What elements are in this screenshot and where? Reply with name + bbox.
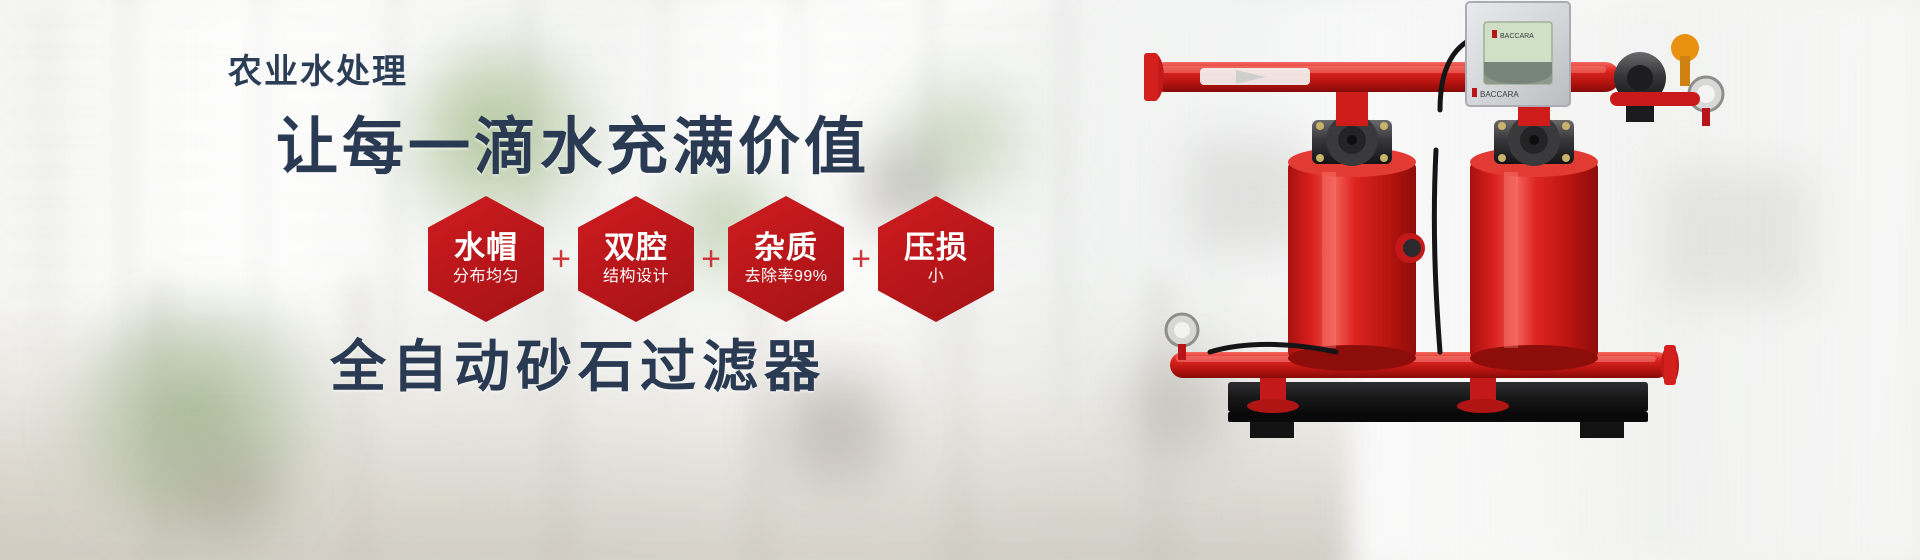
plus-separator-icon: + [694,242,728,276]
banner-subline: 全自动砂石过滤器 [330,322,826,403]
product-vessel-right [1470,147,1598,371]
feature-badge: 杂质 去除率99% [728,196,844,322]
product-image-sand-filter: BACCARA BACCARA [1140,0,1920,560]
feature-badge-subtitle: 去除率99% [744,268,827,286]
controller-brand-label: BACCARA [1480,90,1519,99]
feature-badge-row: 水帽 分布均匀 + 双腔 结构设计 + 杂质 去除率99% + 压损 小 [428,196,994,322]
plus-separator-icon: + [544,242,578,276]
feature-badge-title: 杂质 [754,232,818,265]
plus-separator-icon: + [844,242,878,276]
feature-badge: 水帽 分布均匀 [428,196,544,322]
feature-badge-subtitle: 分布均匀 [453,268,519,286]
banner-eyebrow: 农业水处理 [228,44,408,93]
feature-badge-title: 双腔 [604,232,668,265]
product-right-valve-cluster [1610,34,1723,126]
feature-badge-subtitle: 结构设计 [603,268,669,286]
feature-badge: 压损 小 [878,196,994,322]
feature-badge-subtitle: 小 [928,268,945,286]
product-controller-box: BACCARA BACCARA [1466,2,1570,106]
product-vessel-left [1288,147,1425,371]
feature-badge: 双腔 结构设计 [578,196,694,322]
controller-screen-brand: BACCARA [1500,33,1534,40]
banner-headline: 让每一滴水充满价值 [276,96,870,186]
feature-badge-title: 水帽 [454,232,518,265]
feature-badge-title: 压损 [904,232,968,265]
promo-banner: BACCARA BACCARA 农业水处理 让每一滴水充满价值 全自动砂石过滤器… [0,0,1920,560]
